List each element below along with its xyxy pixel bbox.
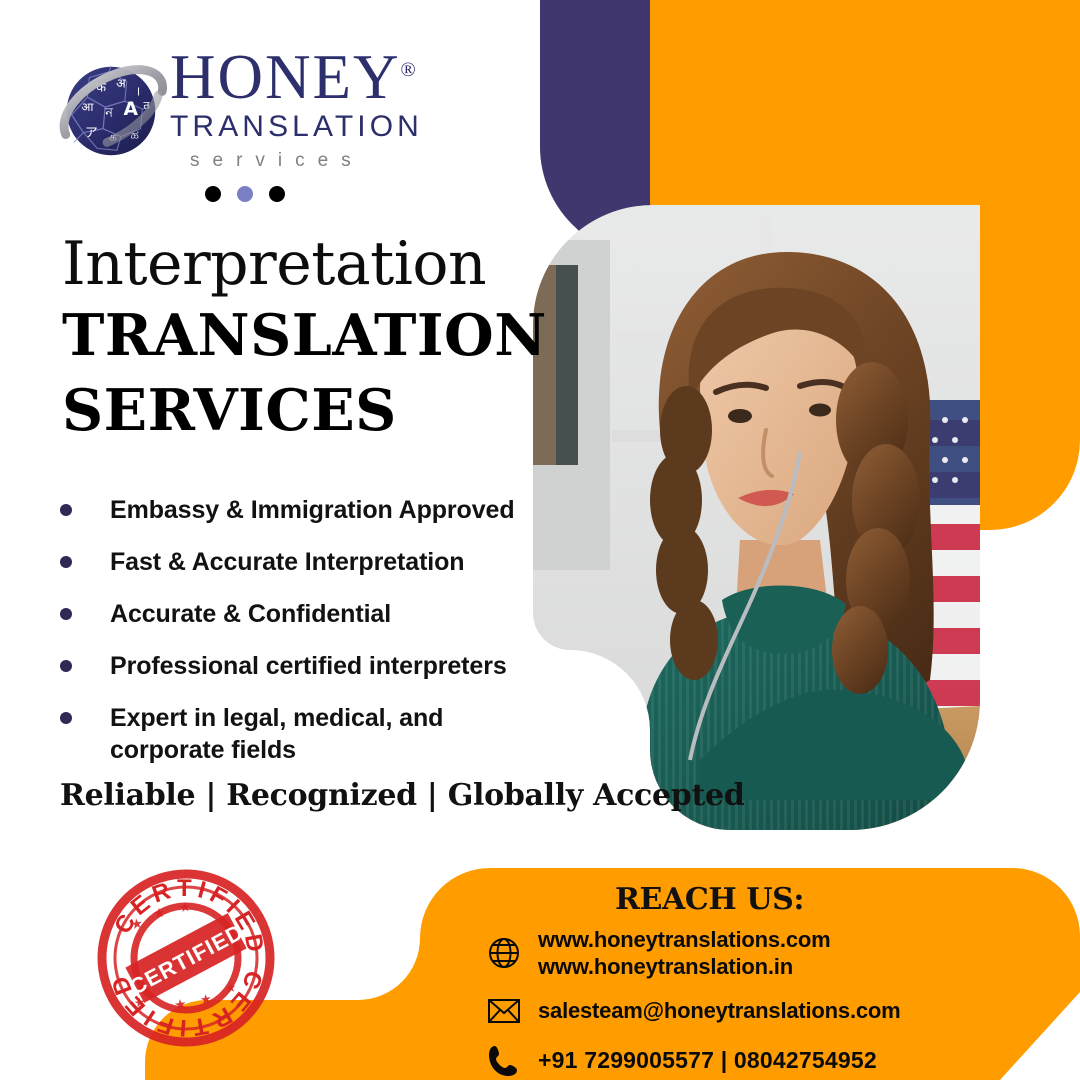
contact-heading: REACH US: [615,882,804,917]
phone-icon [482,1041,526,1080]
interpreter-photo [500,190,1000,850]
list-item: Accurate & Confidential [52,598,532,630]
features-list: Embassy & Immigration Approved Fast & Ac… [52,494,532,786]
bullet-icon [60,556,72,568]
globe-languages-icon: क अ ا आ ন A त ア க ಹ [52,52,170,170]
svg-text:ا: ا [137,85,140,98]
tagline: Reliable | Recognized | Globally Accepte… [60,778,745,813]
list-item-label: Accurate & Confidential [110,598,391,630]
headline-line-1: TRANSLATION [62,302,532,369]
globe-icon [482,933,526,973]
contact-row-phone[interactable]: +91 7299005577 | 08042754952 [482,1041,1042,1080]
contact-panel: REACH US: www.honeytranslations.com www.… [420,868,1080,1080]
svg-text:आ: आ [81,100,94,114]
contact-row-email[interactable]: salesteam@honeytranslations.com [482,991,1042,1031]
divider-dots [205,186,285,202]
list-item: Professional certified interpreters [52,650,532,682]
brand-logo[interactable]: क अ ا आ ন A त ア க ಹ HONEY® TRANSLATION s… [52,48,472,178]
envelope-icon [482,991,526,1031]
phone-numbers[interactable]: +91 7299005577 | 08042754952 [538,1046,877,1075]
dot-1 [205,186,221,202]
dot-3 [269,186,285,202]
list-item: Fast & Accurate Interpretation [52,546,532,578]
poster-canvas: CERTIFIED ★ ★ ★ ★ ★ ★ ★ CERTIFIED [0,0,1080,1080]
website-primary[interactable]: www.honeytranslations.com [538,926,830,953]
list-item-label: Fast & Accurate Interpretation [110,546,464,578]
list-item-label: Embassy & Immigration Approved [110,494,515,526]
headline-block: Interpretation TRANSLATION SERVICES [62,234,532,445]
svg-text:ア: ア [85,126,98,141]
bullet-icon [60,660,72,672]
headline-script: Interpretation [62,234,532,294]
list-item: Expert in legal, medical, and corporate … [52,702,532,766]
bullet-icon [60,712,72,724]
email-address[interactable]: salesteam@honeytranslations.com [538,997,901,1024]
svg-text:★: ★ [199,991,213,1007]
list-item: Embassy & Immigration Approved [52,494,532,526]
svg-text:अ: अ [116,76,126,91]
logo-subline: TRANSLATION [170,110,470,144]
svg-text:★: ★ [173,995,188,1013]
list-item-label: Professional certified interpreters [110,650,507,682]
logo-tagline: services [190,150,470,172]
list-item-label: Expert in legal, medical, and corporate … [110,702,460,766]
svg-text:A: A [123,99,138,120]
registered-icon: ® [400,59,415,81]
svg-text:ন: ন [104,106,113,121]
contact-row-website[interactable]: www.honeytranslations.com www.honeytrans… [482,926,1042,981]
website-secondary[interactable]: www.honeytranslation.in [538,953,830,980]
logo-wordmark: HONEY® [170,48,470,108]
bullet-icon [60,608,72,620]
bullet-icon [60,504,72,516]
headline-line-2: SERVICES [62,377,532,444]
dot-2 [237,186,253,202]
